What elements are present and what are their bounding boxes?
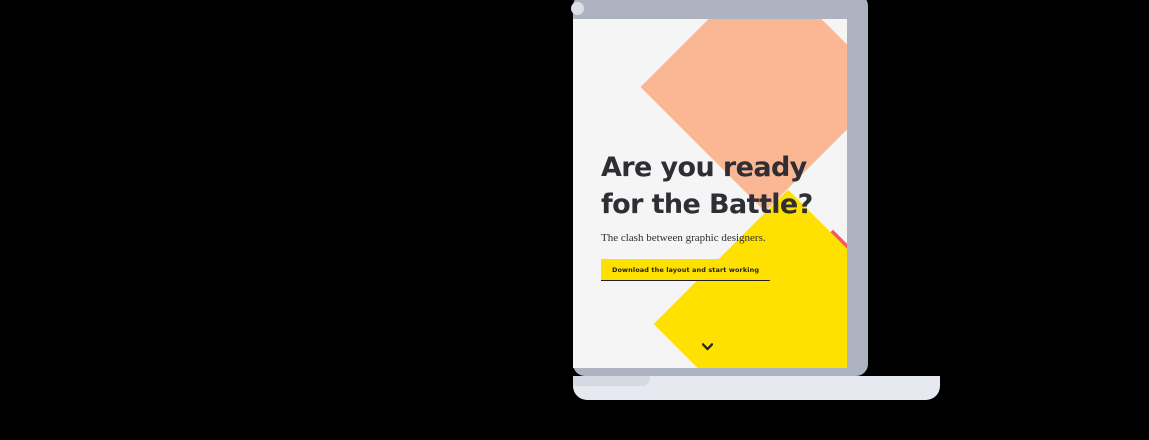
hero-cta-wrapper: Download the layout and start working xyxy=(601,259,847,281)
laptop-camera-icon xyxy=(571,2,584,15)
hero-heading: Are you ready for the Battle? xyxy=(601,149,847,224)
laptop-screen: Are you ready for the Battle? The clash … xyxy=(573,19,847,368)
hero-subheading: The clash between graphic designers. xyxy=(601,231,847,245)
scroll-down-button[interactable] xyxy=(699,341,715,353)
download-layout-button[interactable]: Download the layout and start working xyxy=(601,259,770,281)
laptop-base-notch xyxy=(573,376,650,386)
laptop-mockup: Are you ready for the Battle? The clash … xyxy=(0,0,1149,440)
hero-section: Are you ready for the Battle? The clash … xyxy=(601,149,847,281)
screenshot-canvas: Are you ready for the Battle? The clash … xyxy=(0,0,1149,440)
website-page: Are you ready for the Battle? The clash … xyxy=(573,19,847,368)
chevron-down-icon xyxy=(702,343,713,351)
